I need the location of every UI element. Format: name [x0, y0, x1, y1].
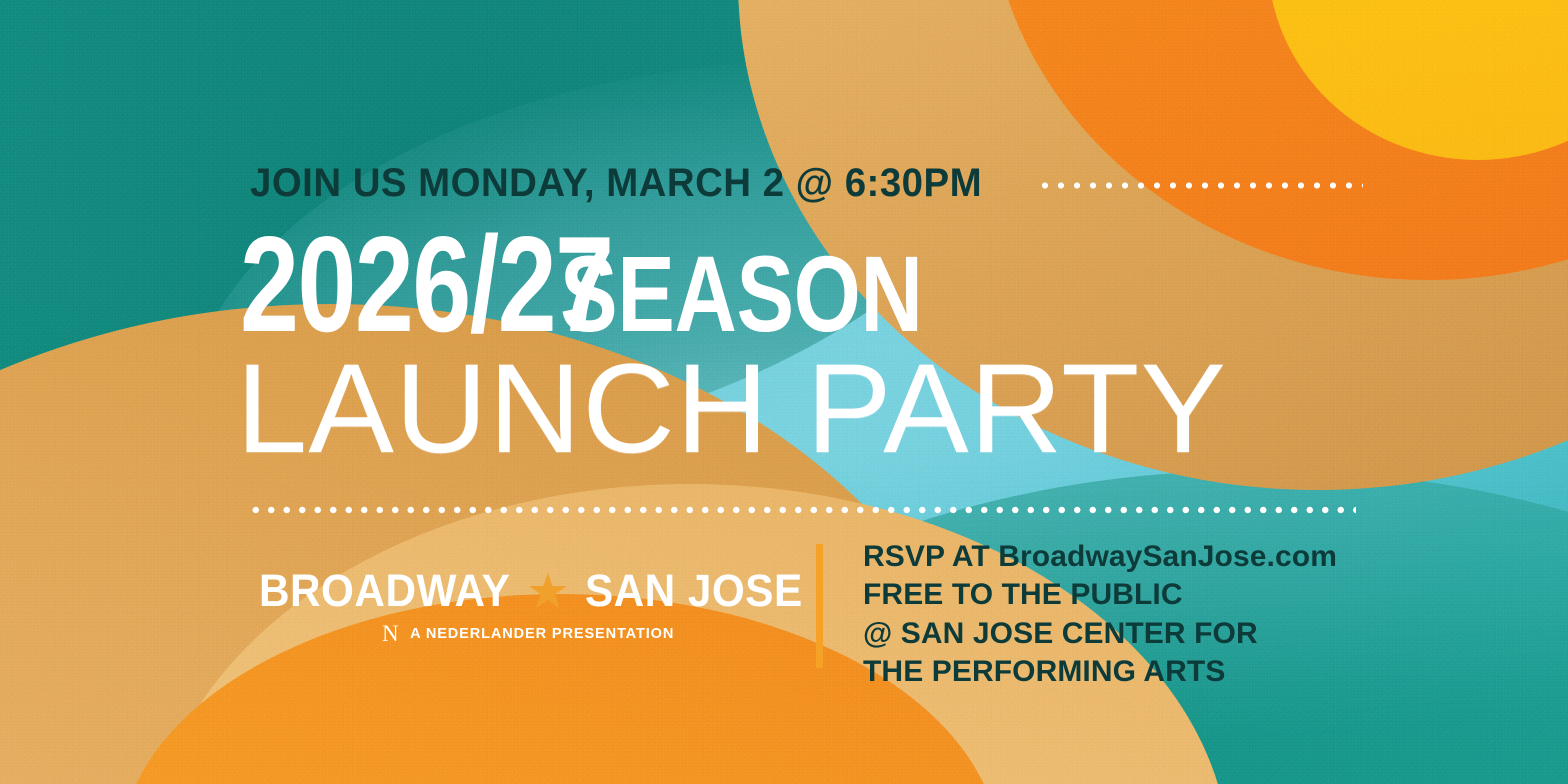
nederlander-tagline: A NEDERLANDER PRESENTATION: [410, 626, 674, 641]
vertical-divider-bar: [816, 544, 823, 668]
footer-block: BROADWAY SAN JOSE N A NEDERLANDER PRESEN…: [250, 536, 1388, 692]
rsvp-line[interactable]: RSVP AT BroadwaySanJose.com: [863, 538, 1388, 576]
season-headline: 2026/27 SEASON: [240, 222, 1013, 347]
poster-content: JOIN US MONDAY, MARCH 2 @ 6:30PM 2026/27…: [0, 0, 1568, 784]
season-year-text: 2026/27: [240, 222, 613, 347]
admission-line: FREE TO THE PUBLIC: [863, 576, 1388, 614]
venue-line-1: @ SAN JOSE CENTER FOR: [863, 615, 1388, 653]
season-word-text: SEASON: [560, 244, 922, 343]
logo-word-san-jose: SAN JOSE: [585, 568, 803, 613]
logo-wordmark: BROADWAY SAN JOSE: [250, 568, 810, 613]
event-details: RSVP AT BroadwaySanJose.com FREE TO THE …: [863, 536, 1388, 692]
venue-line-2: THE PERFORMING ARTS: [863, 653, 1388, 691]
nederlander-n-icon: N: [382, 622, 399, 645]
season-launch-party-poster: JOIN US MONDAY, MARCH 2 @ 6:30PM 2026/27…: [0, 0, 1568, 784]
event-date-row: JOIN US MONDAY, MARCH 2 @ 6:30PM: [250, 163, 1363, 203]
dotted-divider: [248, 505, 1356, 515]
star-icon: [529, 573, 567, 611]
launch-party-title: LAUNCH PARTY: [236, 345, 1227, 472]
broadway-san-jose-logo[interactable]: BROADWAY SAN JOSE N A NEDERLANDER PRESEN…: [250, 536, 810, 645]
dotted-rule-top: [1037, 181, 1363, 190]
nederlander-lockup: N A NEDERLANDER PRESENTATION: [250, 622, 810, 645]
event-date-text: JOIN US MONDAY, MARCH 2 @ 6:30PM: [250, 163, 982, 203]
logo-word-broadway: BROADWAY: [259, 568, 510, 613]
